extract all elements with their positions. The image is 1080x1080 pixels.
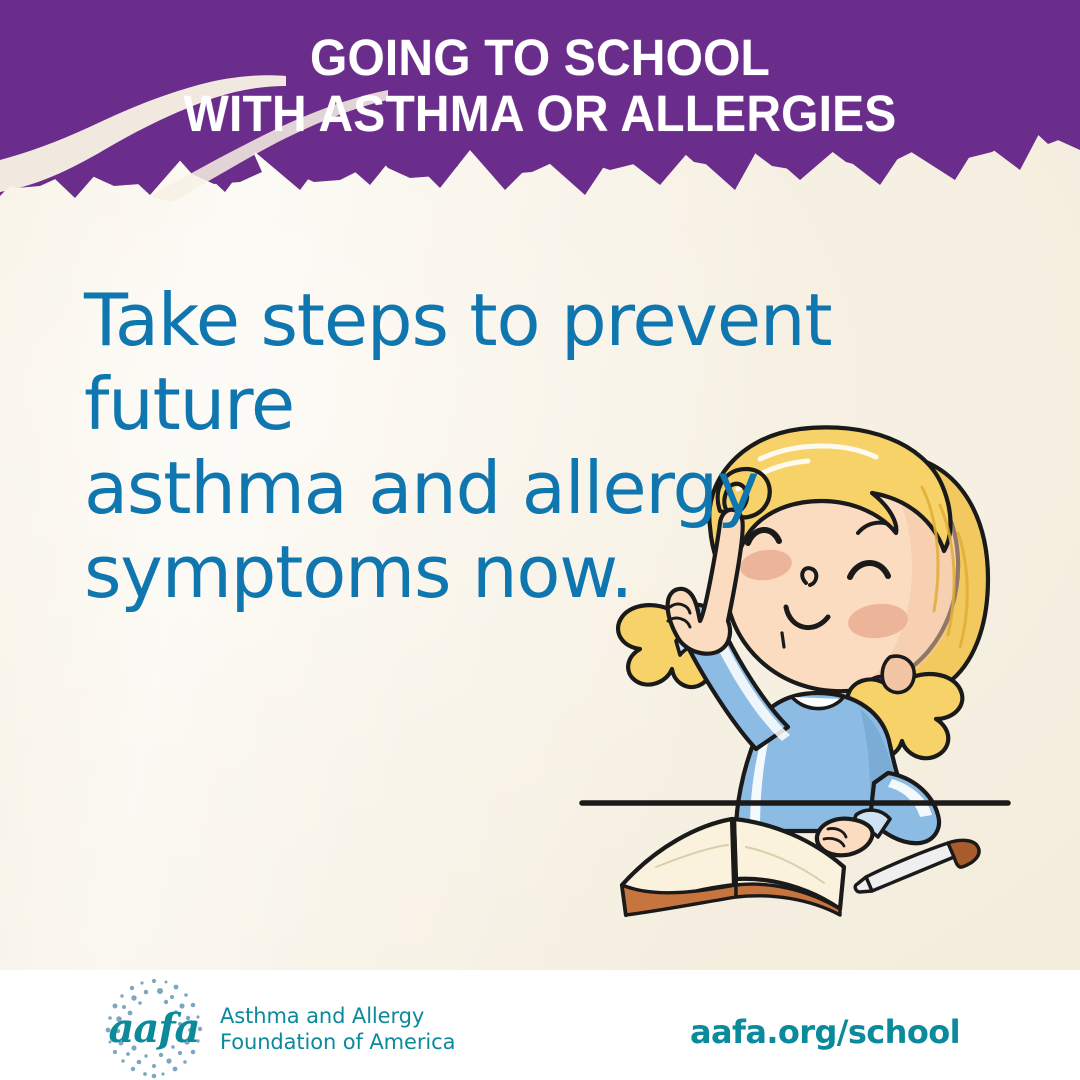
headline-line-2: asthma and allergy bbox=[84, 446, 1024, 530]
headline-line-3: symptoms now. bbox=[84, 530, 1024, 614]
pen-cap bbox=[948, 840, 979, 867]
org-name-line2: Foundation of America bbox=[220, 1029, 455, 1055]
header-title-line1: GOING TO SCHOOL bbox=[310, 29, 770, 86]
header-title: GOING TO SCHOOL WITH ASTHMA OR ALLERGIES bbox=[32, 30, 1047, 142]
headline-line-1: Take steps to prevent future bbox=[84, 278, 1024, 446]
logo-wordmark: aafa bbox=[109, 1005, 200, 1052]
header-title-line2: WITH ASTHMA OR ALLERGIES bbox=[32, 86, 1047, 142]
header-banner: GOING TO SCHOOL WITH ASTHMA OR ALLERGIES bbox=[0, 0, 1080, 210]
pen bbox=[855, 840, 979, 892]
aafa-organization-name: Asthma and Allergy Foundation of America bbox=[220, 1001, 455, 1055]
headline: Take steps to prevent future asthma and … bbox=[84, 278, 1024, 614]
ear bbox=[882, 656, 914, 692]
aafa-logo-mark: aafa bbox=[100, 974, 208, 1080]
book-spine bbox=[734, 819, 736, 885]
org-name-line1: Asthma and Allergy bbox=[220, 1003, 455, 1029]
open-book bbox=[622, 819, 844, 915]
chin-crease bbox=[782, 633, 784, 647]
poster-canvas: GOING TO SCHOOL WITH ASTHMA OR ALLERGIES… bbox=[0, 0, 1080, 1080]
website-url[interactable]: aafa.org/school bbox=[690, 1013, 960, 1051]
footer: aafa Asthma and Allergy Foundation of Am… bbox=[0, 970, 1080, 1080]
aafa-logo-lockup[interactable]: aafa Asthma and Allergy Foundation of Am… bbox=[100, 974, 455, 1080]
